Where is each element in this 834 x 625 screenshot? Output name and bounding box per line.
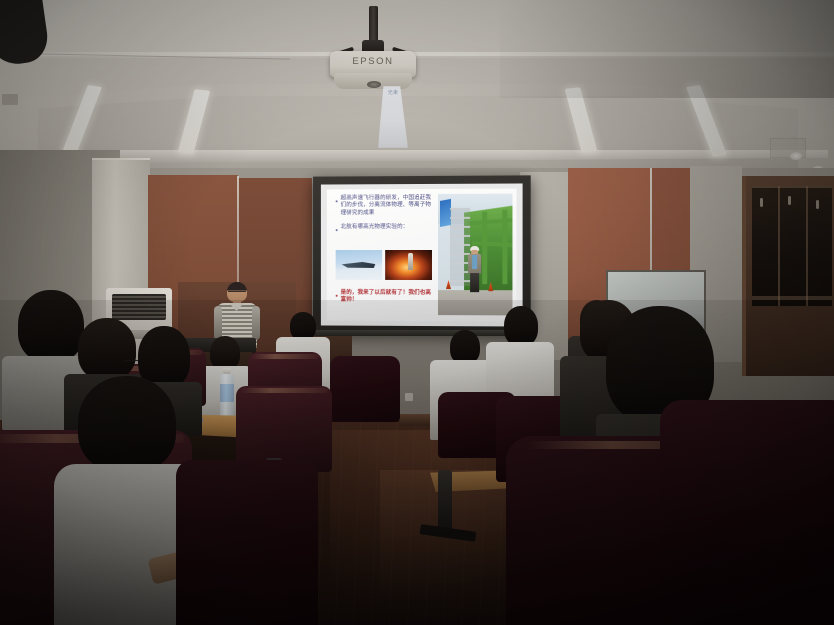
bookcase-reflection-2: [788, 196, 791, 205]
aircraft-silhouette: [342, 262, 376, 268]
photo-scaffolding: [450, 208, 470, 286]
slide-bullet-text-2: 北航有哪高光物理实验的：: [341, 224, 409, 232]
bullet-marker-icon: [336, 295, 338, 297]
audience-head: [210, 336, 240, 370]
slide-bullet-text-1: 超高声速飞行器的研发，中国追赶我们的步伐，分离流体物理、等离子物理研究的成果: [341, 195, 433, 217]
bookcase-mullion-v2: [806, 186, 808, 306]
slide-bullet-list: 超高声速飞行器的研发，中国追赶我们的步伐，分离流体物理、等离子物理研究的成果 北…: [336, 195, 433, 239]
lecture-hall-photo: EPSON 光束: [0, 0, 834, 625]
audience-head: [290, 312, 316, 340]
slide-bullet-3: 是的，我来了以后就有了！我们也高富帅！: [336, 290, 433, 305]
bullet-marker-icon: [336, 200, 338, 202]
presenter-arm-right: [252, 306, 260, 340]
glasses-icon: [228, 291, 246, 295]
photo-engineer-legs: [470, 273, 479, 292]
projector-lens: [367, 81, 381, 88]
hypersonic-aircraft-photo: [336, 250, 382, 280]
rocket-launch-photo: [385, 250, 432, 280]
seat-highlight: [240, 388, 328, 393]
slide-emphasis-line: 是的，我来了以后就有了！我们也高富帅！: [336, 290, 433, 312]
presenter-arm-left: [214, 306, 222, 340]
audience-head: [78, 376, 176, 472]
air-conditioner-grille: [112, 294, 166, 320]
slide-bullet-1: 超高声速飞行器的研发，中国追赶我们的步伐，分离流体物理、等离子物理研究的成果: [336, 195, 433, 218]
slide-bullet-2: 北航有哪高光物理实验的：: [336, 224, 433, 232]
slide-inset-images: [336, 250, 432, 280]
presentation-slide: 超高声速飞行器的研发，中国追赶我们的步伐，分离流体物理、等离子物理研究的成果 北…: [327, 189, 517, 322]
auditorium-seat-fg-left-2: [176, 460, 318, 625]
blue-label-water-bottle: [220, 368, 234, 420]
bookcase-mullion-v1: [778, 186, 780, 306]
bookcase-reflection-3: [816, 200, 819, 209]
bookcase-glass-door: [752, 186, 832, 306]
projector-brand-label: EPSON: [330, 56, 416, 67]
auditorium-seat-r3-c: [330, 356, 400, 422]
ceiling-vent-left: [2, 94, 18, 105]
audience-head: [504, 306, 538, 346]
photo-column-2: [502, 210, 507, 284]
audience-head: [450, 330, 480, 364]
photo-column-1: [482, 212, 487, 284]
slide-bullet-text-3: 是的，我来了以后就有了！我们也高富帅！: [341, 290, 433, 305]
projector-mount-pole: [369, 6, 378, 42]
engineer-at-green-test-rig-photo: [438, 194, 512, 316]
auditorium-seat-fg-far-right: [660, 400, 834, 625]
wall-outlet-2: [405, 393, 413, 401]
bottle-label: [220, 384, 234, 402]
ceiling-shadow: [500, 0, 834, 98]
bookcase-shelf: [752, 296, 832, 300]
bullet-marker-icon: [336, 229, 338, 231]
seat-highlight: [251, 354, 319, 359]
ceiling-downlight-1: [790, 152, 802, 160]
projector-beam-label: 光束: [379, 90, 407, 97]
bookcase-reflection-1: [760, 198, 763, 207]
bookcase-mullion-h1: [752, 186, 832, 188]
rocket-silhouette: [408, 253, 413, 270]
photo-engineer: [468, 246, 481, 292]
photo-engineer-shirt: [472, 255, 477, 269]
